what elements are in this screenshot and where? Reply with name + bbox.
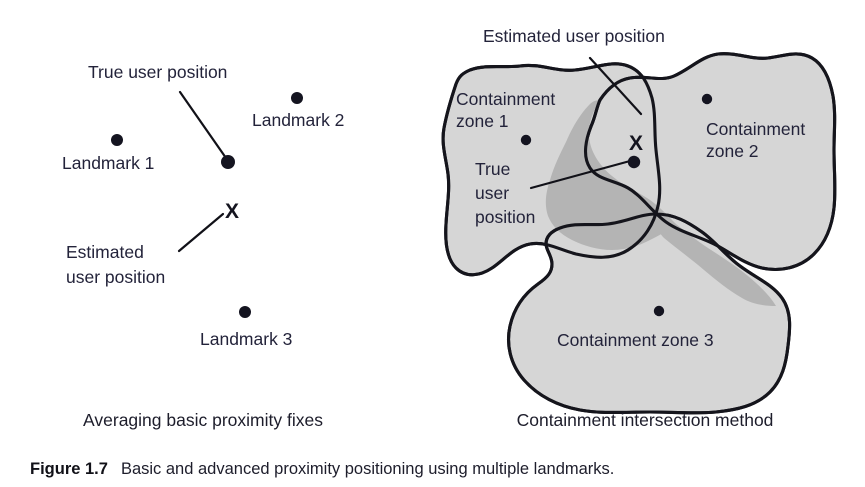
containment-zone-2-label-line1: Containment [706, 119, 805, 139]
containment-zone-1-label-line2: zone 1 [456, 111, 509, 131]
containment-zone-3-label: Containment zone 3 [557, 330, 714, 350]
left-panel-sub-caption: Averaging basic proximity fixes [83, 410, 323, 430]
landmark-2-label: Landmark 2 [252, 110, 344, 130]
left-estimated-user-position-label-line2: user position [66, 267, 165, 287]
landmark-3-label: Landmark 3 [200, 329, 292, 349]
figure-caption: Figure 1.7 Basic and advanced proximity … [0, 452, 865, 487]
proximity-positioning-diagram: Containment zone 1 Containment zone 2 Co… [0, 0, 865, 487]
figure-caption-label: Figure 1.7 [30, 460, 108, 479]
left-true-user-position-leader [180, 92, 226, 158]
landmark-1-label: Landmark 1 [62, 153, 154, 173]
containment-zone-2-dot [702, 94, 712, 104]
figure-caption-text: Basic and advanced proximity positioning… [121, 460, 614, 479]
left-estimated-user-position-x-marker: X [225, 200, 239, 223]
containment-zones-group: Containment zone 1 Containment zone 2 Co… [443, 26, 835, 413]
containment-zone-3-dot [654, 306, 664, 316]
figure-container: Containment zone 1 Containment zone 2 Co… [0, 0, 865, 487]
left-true-user-position-label: True user position [88, 62, 227, 82]
left-estimated-user-position-label-line1: Estimated [66, 242, 144, 262]
right-true-user-position-dot [628, 156, 640, 168]
right-estimated-user-position-label: Estimated user position [483, 26, 665, 46]
right-panel-sub-caption: Containment intersection method [517, 410, 774, 430]
left-true-user-position-dot [221, 155, 235, 169]
containment-zone-2-label-line2: zone 2 [706, 141, 759, 161]
landmark-1-dot [111, 134, 123, 146]
landmark-2-dot [291, 92, 303, 104]
right-true-user-position-label-line2: user [475, 183, 509, 203]
right-estimated-user-position-x-marker: X [629, 132, 643, 155]
landmark-3-dot [239, 306, 251, 318]
right-true-user-position-label-line1: True [475, 159, 510, 179]
averaging-proximity-group: True user position Landmark 2 Landmark 1… [62, 62, 344, 349]
containment-zone-1-label-line1: Containment [456, 89, 555, 109]
right-true-user-position-label-line3: position [475, 207, 535, 227]
containment-zone-1-dot [521, 135, 531, 145]
left-estimated-user-position-leader [179, 214, 223, 251]
